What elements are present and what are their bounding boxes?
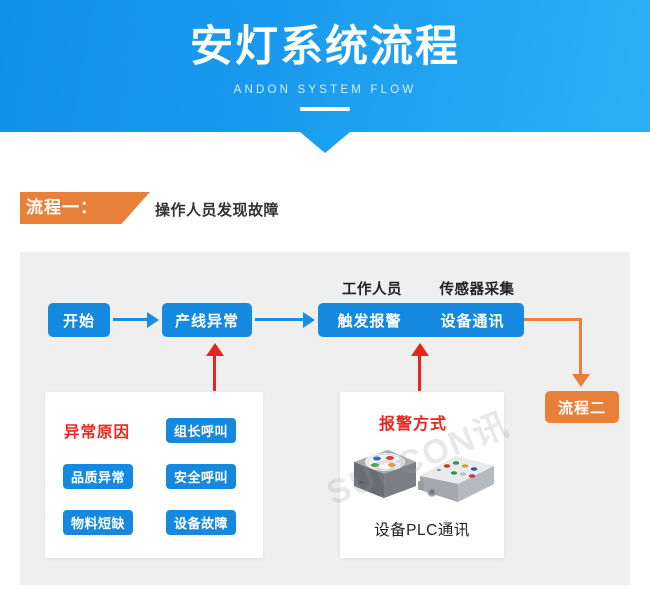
reason-tag[interactable]: 组长呼叫 — [166, 418, 236, 443]
flow-node-next-step[interactable]: 流程二 — [545, 391, 619, 423]
page-subtitle: ANDON SYSTEM FLOW — [0, 84, 650, 96]
arrow-right-icon — [113, 311, 159, 329]
header-notch-icon — [300, 132, 350, 153]
flow-node-line-abnormal[interactable]: 产线异常 — [162, 303, 252, 337]
step-ribbon-label: 流程一： — [26, 197, 98, 219]
reason-card-title: 异常原因 — [64, 420, 130, 442]
andon-multi-button-box — [418, 456, 494, 502]
elbow-arrow-down-icon — [524, 318, 588, 393]
alarm-card-title: 报警方式 — [379, 410, 447, 434]
flow-node-device-comm[interactable]: 设备通讯 — [421, 310, 524, 331]
andon-device-illustration — [348, 440, 498, 512]
flow-node-start[interactable]: 开始 — [48, 303, 110, 337]
column-header-sensor: 传感器采集 — [425, 278, 529, 299]
arrow-right-icon — [255, 311, 315, 329]
plc-caption: 设备PLC通讯 — [340, 518, 504, 540]
reason-tag[interactable]: 设备故障 — [166, 510, 236, 535]
step-description: 操作人员发现故障 — [155, 199, 279, 220]
page-title: 安灯系统流程 — [0, 20, 650, 74]
arrow-up-icon — [411, 343, 429, 391]
flow-node-trigger-group[interactable]: 触发报警 设备通讯 — [318, 303, 524, 337]
andon-round-button-box — [354, 450, 416, 498]
flow-node-trigger-alarm[interactable]: 触发报警 — [318, 310, 421, 331]
title-divider — [300, 107, 350, 111]
column-header-staff: 工作人员 — [322, 278, 422, 299]
reason-tag[interactable]: 物料短缺 — [63, 510, 133, 535]
arrow-up-icon — [206, 343, 224, 391]
page-header: 安灯系统流程 ANDON SYSTEM FLOW — [0, 0, 650, 132]
reason-tag[interactable]: 品质异常 — [63, 464, 133, 489]
reason-tag[interactable]: 安全呼叫 — [166, 464, 236, 489]
